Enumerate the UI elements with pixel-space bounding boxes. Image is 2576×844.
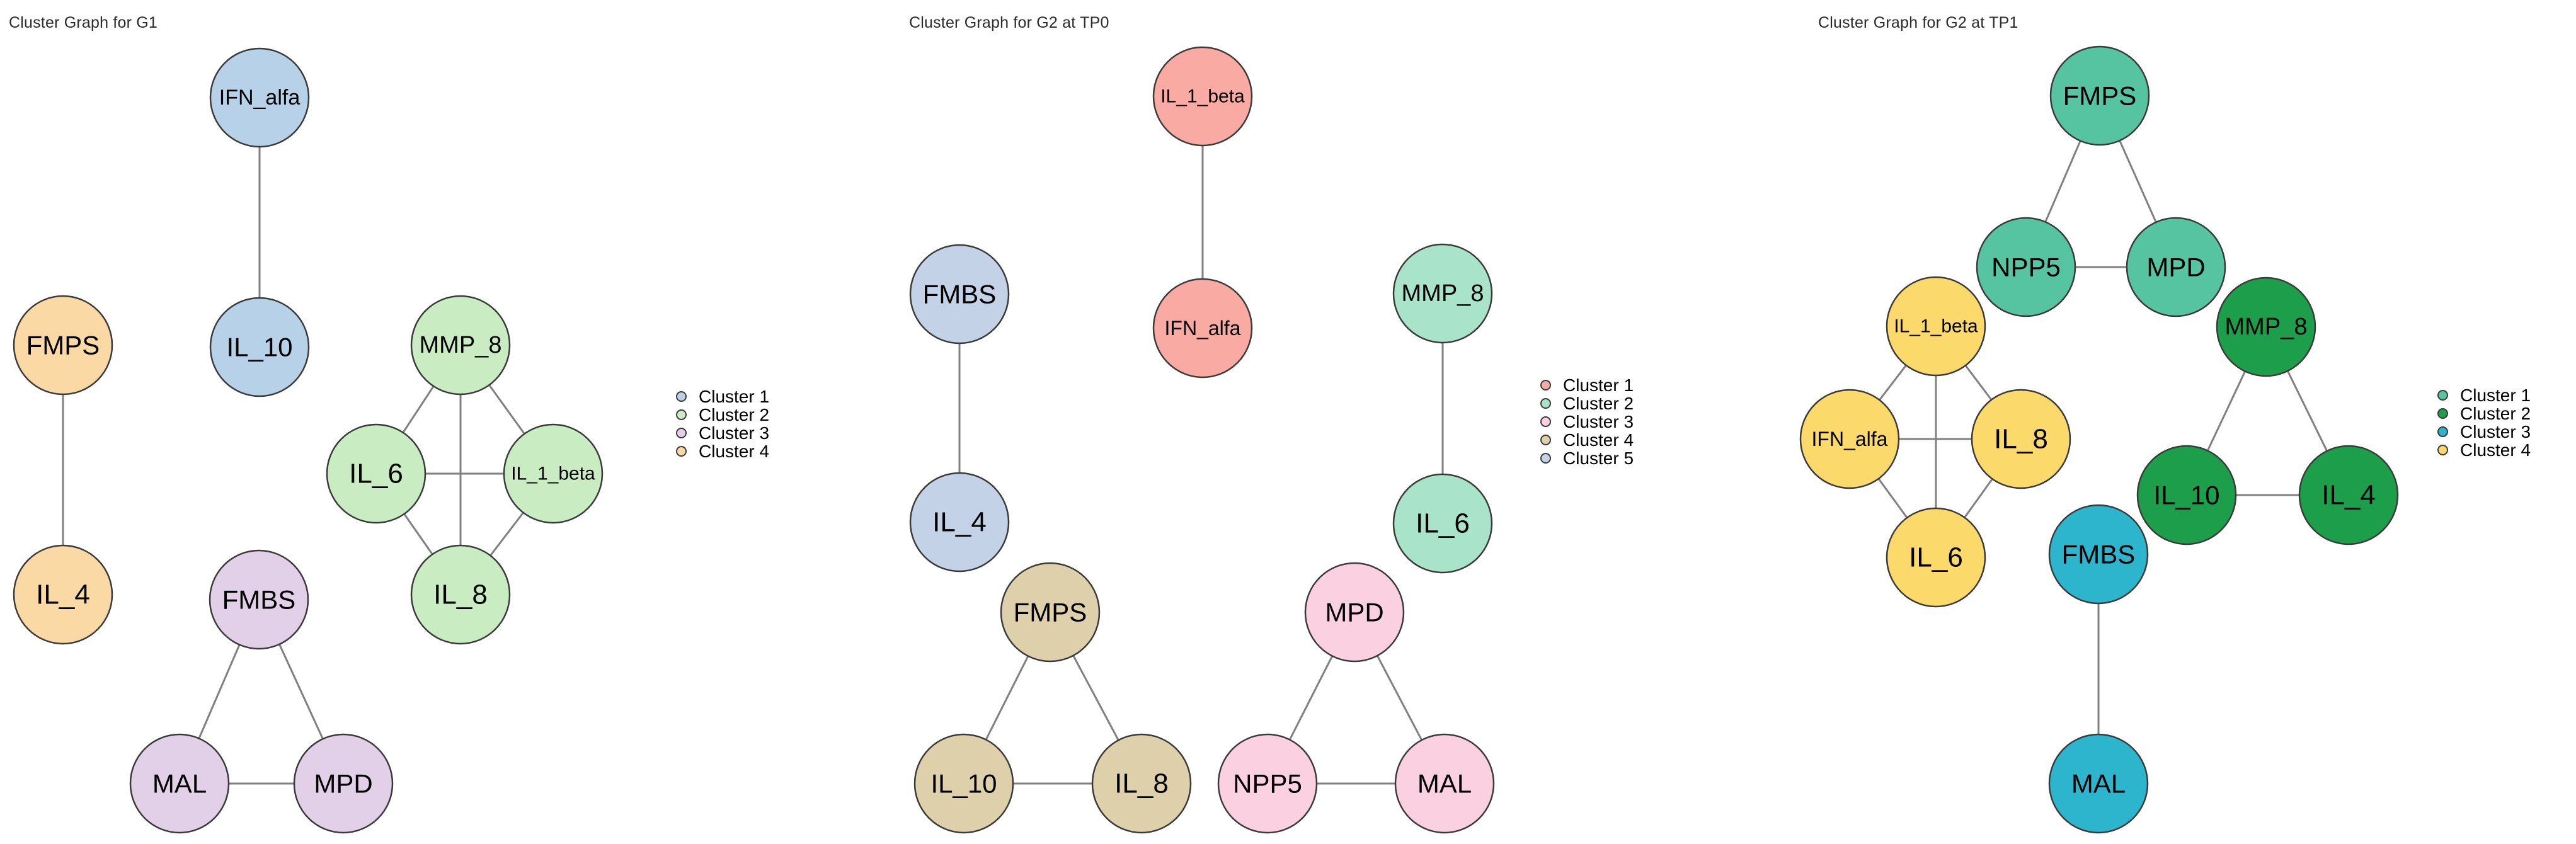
legend-swatch-icon bbox=[676, 409, 687, 420]
cluster-legend: Cluster 1Cluster 2Cluster 3Cluster 4 bbox=[676, 387, 769, 460]
legend-swatch-icon bbox=[1540, 416, 1551, 427]
node-layer: IL_1_betaIFN_alfaFMBSIL_4MMP_8IL_6FMPSIL… bbox=[910, 47, 1494, 833]
graph-node[interactable]: IFN_alfa bbox=[210, 48, 309, 147]
graph-node[interactable]: MMP_8 bbox=[2217, 278, 2315, 376]
node-label: IL_6 bbox=[1416, 508, 1470, 539]
legend-item[interactable]: Cluster 1 bbox=[676, 387, 769, 406]
node-label: NPP5 bbox=[1991, 253, 2061, 282]
graph-node[interactable]: IL_6 bbox=[1394, 474, 1492, 573]
node-label: MAL bbox=[2071, 769, 2126, 799]
node-label: IL_4 bbox=[932, 507, 987, 538]
graph-node[interactable]: IL_1_beta bbox=[1153, 47, 1252, 145]
legend-swatch-icon bbox=[2437, 426, 2448, 437]
legend-label: Cluster 3 bbox=[2460, 423, 2531, 441]
legend-swatch-icon bbox=[1540, 380, 1551, 391]
legend-item[interactable]: Cluster 5 bbox=[1540, 449, 1634, 467]
node-label: IL_1_beta bbox=[1160, 86, 1245, 107]
graph-canvas: FMPSNPP5MPDIL_1_betaIFN_alfaIL_8IL_6MMP_… bbox=[0, 0, 2576, 844]
graph-node[interactable]: IL_1_beta bbox=[504, 425, 602, 523]
legend-label: Cluster 2 bbox=[699, 406, 769, 424]
graph-node[interactable]: IL_10 bbox=[210, 298, 309, 396]
node-label: IL_10 bbox=[226, 333, 292, 362]
node-label: IL_4 bbox=[36, 579, 90, 610]
graph-node[interactable]: MPD bbox=[294, 734, 392, 833]
node-label: IL_8 bbox=[1114, 768, 1169, 799]
legend-swatch-icon bbox=[2437, 390, 2448, 401]
legend-item[interactable]: Cluster 2 bbox=[2437, 404, 2531, 423]
edge-layer bbox=[959, 96, 1445, 784]
cluster-graph-figure: Cluster Graph for G1IFN_alfaIL_10MMP_8IL… bbox=[0, 0, 2576, 844]
node-label: MPD bbox=[314, 769, 372, 799]
legend-swatch-icon bbox=[1540, 453, 1551, 464]
panel-title: Cluster Graph for G2 at TP0 bbox=[909, 14, 1109, 32]
node-label: IL_10 bbox=[930, 769, 997, 799]
legend-swatch-icon bbox=[1540, 398, 1551, 409]
panel-title: Cluster Graph for G2 at TP1 bbox=[1818, 14, 2018, 32]
legend-label: Cluster 3 bbox=[699, 424, 769, 442]
legend-swatch-icon bbox=[2437, 445, 2448, 455]
legend-label: Cluster 4 bbox=[699, 442, 769, 460]
node-label: IFN_alfa bbox=[1165, 317, 1241, 339]
graph-node[interactable]: IL_10 bbox=[915, 734, 1013, 833]
graph-node[interactable]: MAL bbox=[130, 734, 229, 833]
graph-node[interactable]: IL_4 bbox=[910, 473, 1009, 571]
node-label: MPD bbox=[1325, 598, 1383, 627]
edge-layer bbox=[1850, 96, 2349, 784]
node-label: MAL bbox=[152, 769, 207, 799]
legend-label: Cluster 4 bbox=[2460, 441, 2531, 459]
graph-node[interactable]: FMPS bbox=[2051, 47, 2149, 145]
node-label: IL_10 bbox=[2153, 481, 2219, 510]
node-label: MPD bbox=[2146, 253, 2205, 282]
legend-label: Cluster 1 bbox=[699, 387, 769, 406]
cluster-legend: Cluster 1Cluster 2Cluster 3Cluster 4 bbox=[2437, 386, 2531, 459]
node-label: FMBS bbox=[2062, 540, 2136, 569]
graph-node[interactable]: IL_1_beta bbox=[1887, 277, 1985, 375]
node-label: IFN_alfa bbox=[1812, 428, 1888, 450]
graph-node[interactable]: FMPS bbox=[14, 296, 112, 394]
legend-item[interactable]: Cluster 1 bbox=[2437, 386, 2531, 404]
graph-node[interactable]: IL_8 bbox=[411, 545, 510, 644]
legend-item[interactable]: Cluster 2 bbox=[1540, 394, 1634, 413]
panel-1: Cluster Graph for G1IFN_alfaIL_10MMP_8IL… bbox=[0, 0, 2576, 844]
graph-node[interactable]: NPP5 bbox=[1218, 734, 1317, 833]
node-label: FMBS bbox=[222, 585, 296, 615]
graph-node[interactable]: MMP_8 bbox=[1394, 244, 1492, 343]
legend-label: Cluster 1 bbox=[2460, 386, 2531, 404]
graph-node[interactable]: IL_6 bbox=[1887, 508, 1985, 607]
legend-item[interactable]: Cluster 3 bbox=[676, 424, 769, 442]
graph-node[interactable]: IL_4 bbox=[14, 545, 112, 644]
node-label: IL_6 bbox=[1909, 542, 1963, 573]
node-label: FMPS bbox=[1014, 598, 1087, 627]
node-label: FMPS bbox=[2063, 81, 2137, 111]
graph-node[interactable]: MPD bbox=[2127, 218, 2225, 316]
graph-node[interactable]: MMP_8 bbox=[411, 296, 510, 394]
legend-swatch-icon bbox=[1540, 435, 1551, 445]
graph-node[interactable]: IL_8 bbox=[1092, 734, 1191, 833]
legend-item[interactable]: Cluster 3 bbox=[1540, 413, 1634, 431]
graph-node[interactable]: IL_4 bbox=[2299, 446, 2398, 544]
legend-label: Cluster 2 bbox=[2460, 404, 2531, 423]
legend-label: Cluster 2 bbox=[1563, 394, 1634, 413]
node-label: MMP_8 bbox=[2225, 314, 2308, 340]
legend-item[interactable]: Cluster 2 bbox=[676, 406, 769, 424]
graph-canvas: IL_1_betaIFN_alfaFMBSIL_4MMP_8IL_6FMPSIL… bbox=[0, 0, 2576, 844]
legend-label: Cluster 5 bbox=[1563, 449, 1634, 467]
node-label: NPP5 bbox=[1233, 769, 1302, 799]
legend-item[interactable]: Cluster 4 bbox=[2437, 441, 2531, 459]
graph-node[interactable]: IL_10 bbox=[2138, 446, 2236, 544]
graph-node[interactable]: IL_8 bbox=[1972, 390, 2070, 488]
graph-node[interactable]: FMPS bbox=[1001, 563, 1099, 661]
node-label: IFN_alfa bbox=[219, 86, 301, 110]
node-label: IL_1_beta bbox=[511, 464, 595, 484]
node-label: IL_1_beta bbox=[1894, 316, 1978, 337]
graph-node[interactable]: IFN_alfa bbox=[1153, 279, 1252, 377]
legend-swatch-icon bbox=[2437, 408, 2448, 419]
node-label: IL_8 bbox=[1994, 424, 2048, 455]
panel-2: Cluster Graph for G2 at TP0IL_1_betaIFN_… bbox=[0, 0, 2576, 844]
cluster-legend: Cluster 1Cluster 2Cluster 3Cluster 4Clus… bbox=[1540, 376, 1634, 467]
node-label: IL_4 bbox=[2321, 480, 2376, 511]
node-label: FMBS bbox=[923, 280, 997, 309]
graph-canvas: IFN_alfaIL_10MMP_8IL_6IL_1_betaIL_8FMBSM… bbox=[0, 0, 2576, 844]
legend-label: Cluster 3 bbox=[1563, 413, 1634, 431]
graph-node[interactable]: FMBS bbox=[210, 550, 308, 649]
graph-node[interactable]: MAL bbox=[2049, 734, 2148, 833]
legend-item[interactable]: Cluster 3 bbox=[2437, 423, 2531, 441]
node-label: IL_6 bbox=[349, 459, 403, 489]
node-layer: FMPSNPP5MPDIL_1_betaIFN_alfaIL_8IL_6MMP_… bbox=[1800, 47, 2398, 833]
legend-swatch-icon bbox=[676, 446, 687, 457]
graph-node[interactable]: MAL bbox=[1395, 734, 1494, 833]
graph-node[interactable]: MPD bbox=[1305, 563, 1404, 661]
legend-swatch-icon bbox=[676, 428, 687, 438]
node-layer: IFN_alfaIL_10MMP_8IL_6IL_1_betaIL_8FMBSM… bbox=[14, 48, 602, 833]
node-label: MMP_8 bbox=[420, 332, 502, 358]
graph-node[interactable]: FMBS bbox=[910, 245, 1009, 343]
graph-node[interactable]: NPP5 bbox=[1977, 218, 2075, 316]
legend-item[interactable]: Cluster 1 bbox=[1540, 376, 1634, 394]
panel-3: Cluster Graph for G2 at TP1FMPSNPP5MPDIL… bbox=[0, 0, 2576, 844]
edge-layer bbox=[63, 98, 553, 784]
legend-swatch-icon bbox=[676, 391, 687, 402]
legend-label: Cluster 1 bbox=[1563, 376, 1634, 394]
legend-label: Cluster 4 bbox=[1563, 431, 1634, 449]
node-label: FMPS bbox=[26, 331, 100, 360]
legend-item[interactable]: Cluster 4 bbox=[676, 442, 769, 460]
panel-title: Cluster Graph for G1 bbox=[9, 14, 157, 32]
node-label: MAL bbox=[1417, 769, 1472, 799]
legend-item[interactable]: Cluster 4 bbox=[1540, 431, 1634, 449]
graph-node[interactable]: IL_6 bbox=[327, 425, 425, 523]
graph-node[interactable]: IFN_alfa bbox=[1800, 390, 1899, 488]
graph-node[interactable]: FMBS bbox=[2049, 505, 2148, 603]
node-label: MMP_8 bbox=[1402, 280, 1484, 307]
node-label: IL_8 bbox=[433, 579, 488, 610]
